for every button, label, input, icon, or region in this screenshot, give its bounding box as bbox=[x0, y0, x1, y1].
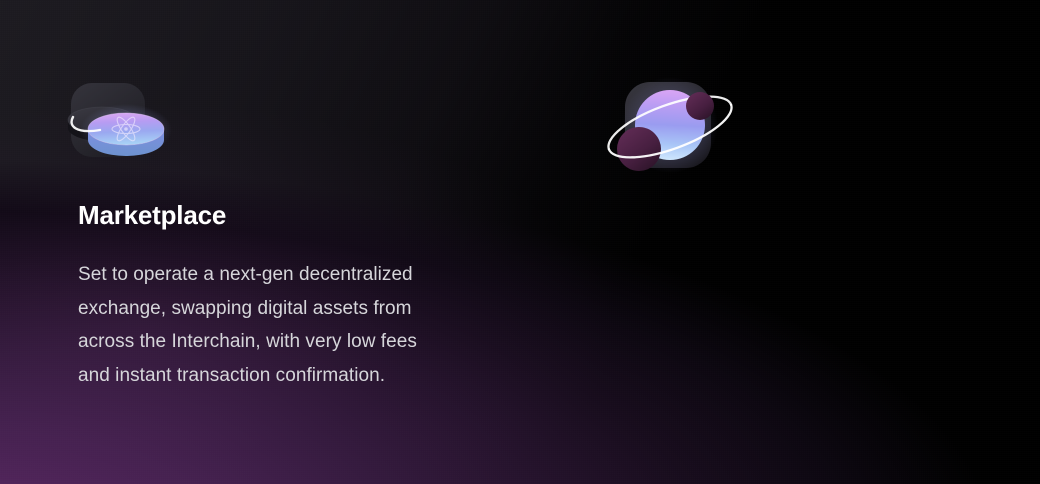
card-marketplace: Marketplace Set to operate a next-gen de… bbox=[0, 0, 554, 484]
card-title-marketplace: Marketplace bbox=[78, 200, 226, 231]
cards-row: Marketplace Set to operate a next-gen de… bbox=[0, 0, 1040, 484]
marketplace-token-icon bbox=[62, 72, 212, 188]
card-body-marketplace: Set to operate a next-gen decentralized … bbox=[78, 258, 438, 392]
security-planet-icon bbox=[602, 72, 752, 188]
card-security-provider: Security provider With the upcoming Inte… bbox=[554, 0, 1040, 484]
feature-cards-section: Marketplace Set to operate a next-gen de… bbox=[0, 0, 1040, 484]
